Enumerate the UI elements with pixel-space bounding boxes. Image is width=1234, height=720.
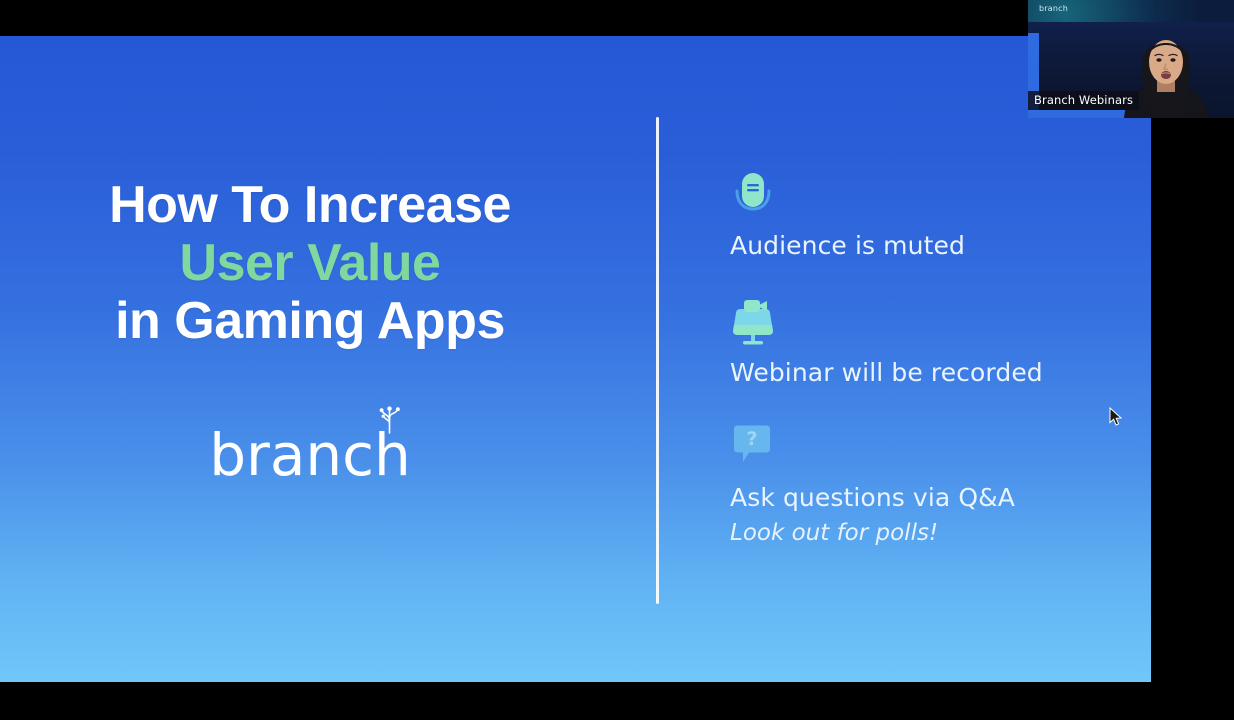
presentation-slide: How To Increase User Value in Gaming App…	[0, 36, 1151, 682]
page-title: How To Increase User Value in Gaming App…	[0, 176, 620, 351]
info-item-label: Webinar will be recorded	[730, 359, 1130, 388]
title-line-1: How To Increase	[0, 176, 620, 234]
microphone-muted-icon	[730, 170, 776, 220]
info-item-questions-qa: ? Ask questions via Q&A Look out for pol…	[730, 422, 1130, 548]
info-item-audience-muted: Audience is muted	[730, 170, 1130, 261]
info-item-label: Ask questions via Q&A	[730, 484, 1130, 513]
info-item-webinar-recorded: Webinar will be recorded	[730, 297, 1130, 388]
screen-recording-icon	[730, 297, 776, 347]
title-line-2-accent: User Value	[0, 234, 620, 292]
branch-logo: branch	[0, 426, 620, 484]
slide-left-column: How To Increase User Value in Gaming App…	[0, 36, 620, 682]
webcam-pip[interactable]: branch Branch Webinars	[1028, 0, 1234, 118]
screen: How To Increase User Value in Gaming App…	[0, 0, 1234, 720]
webcam-branch-watermark: branch	[1039, 4, 1068, 13]
vertical-divider	[656, 117, 659, 604]
slide-right-column: Audience is muted Webinar will be record…	[730, 36, 1130, 682]
title-line-3: in Gaming Apps	[0, 292, 620, 350]
info-item-subtext: Look out for polls!	[730, 519, 1130, 548]
info-item-label: Audience is muted	[730, 232, 1130, 261]
branch-sprig-icon	[376, 404, 404, 434]
svg-text:?: ?	[746, 428, 757, 450]
question-bubble-icon: ?	[730, 422, 776, 472]
participant-name-label: Branch Webinars	[1028, 91, 1139, 110]
